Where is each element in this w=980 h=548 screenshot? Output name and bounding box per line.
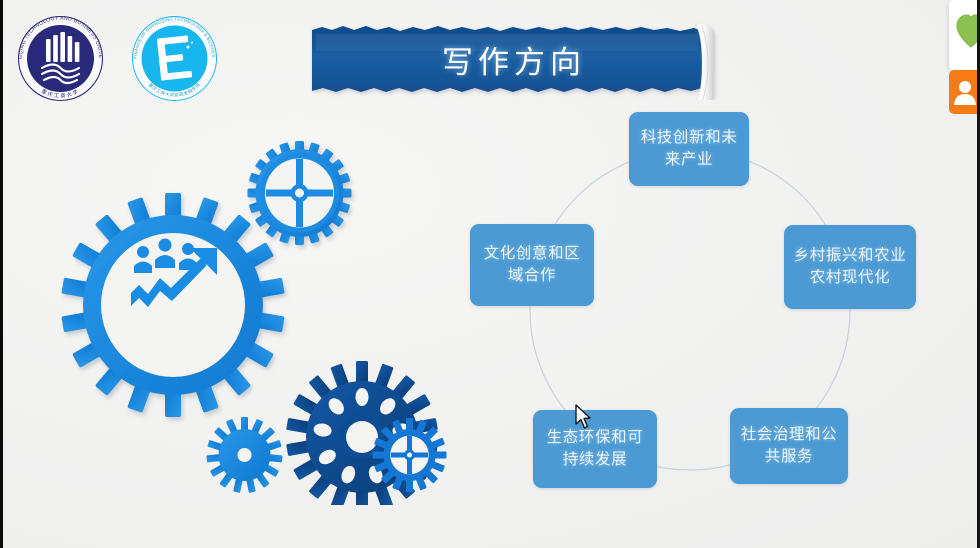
slide-title-banner: 写作方向 <box>310 18 730 100</box>
cycle-node-label: 生态环保和可持续发展 <box>542 427 648 471</box>
customer-service-person-icon <box>953 79 977 105</box>
cycle-node-culture-regional[interactable]: 文化创意和区域合作 <box>470 224 594 306</box>
page-title: 写作方向 <box>310 18 700 100</box>
gears-illustration <box>55 135 455 505</box>
wechat-service-button[interactable] <box>949 0 977 70</box>
cycle-node-social-governance[interactable]: 社会治理和公共服务 <box>730 408 848 484</box>
spoked-gear-top <box>248 141 352 245</box>
small-spoked-gear-right <box>373 418 447 492</box>
mouse-pointer <box>574 404 592 430</box>
chongqing-technology-business-university-logo: CHONGQING TECHNOLOGY AND BUSINESS UNIVER… <box>8 6 113 111</box>
small-gear-left <box>206 417 282 493</box>
floating-widget-bar <box>949 0 977 118</box>
cycle-node-ecology-sustainability[interactable]: 生态环保和可持续发展 <box>533 410 657 488</box>
cycle-node-label: 乡村振兴和农业农村现代化 <box>793 245 907 289</box>
cycle-node-label: 文化创意和区域合作 <box>479 243 585 287</box>
customer-service-button[interactable] <box>949 70 977 114</box>
cycle-node-label: 科技创新和未来产业 <box>638 127 740 171</box>
cycle-node-tech-innovation[interactable]: 科技创新和未来产业 <box>629 112 749 186</box>
cycle-node-rural-revitalization[interactable]: 乡村振兴和农业农村现代化 <box>784 225 916 309</box>
presentation-slide: CHONGQING TECHNOLOGY AND BUSINESS UNIVER… <box>0 0 980 548</box>
college-of-finance-logo: COLLEGE OF FINANCE OF CHONGQING TECHNOLO… <box>122 6 227 111</box>
frame-edge-left <box>0 0 3 548</box>
writing-direction-cycle-diagram: 科技创新和未来产业 乡村振兴和农业农村现代化 社会治理和公共服务 生态环保和可持… <box>455 112 925 512</box>
cycle-node-label: 社会治理和公共服务 <box>739 424 839 468</box>
main-gear <box>61 193 284 417</box>
wechat-service-icon <box>955 14 977 48</box>
